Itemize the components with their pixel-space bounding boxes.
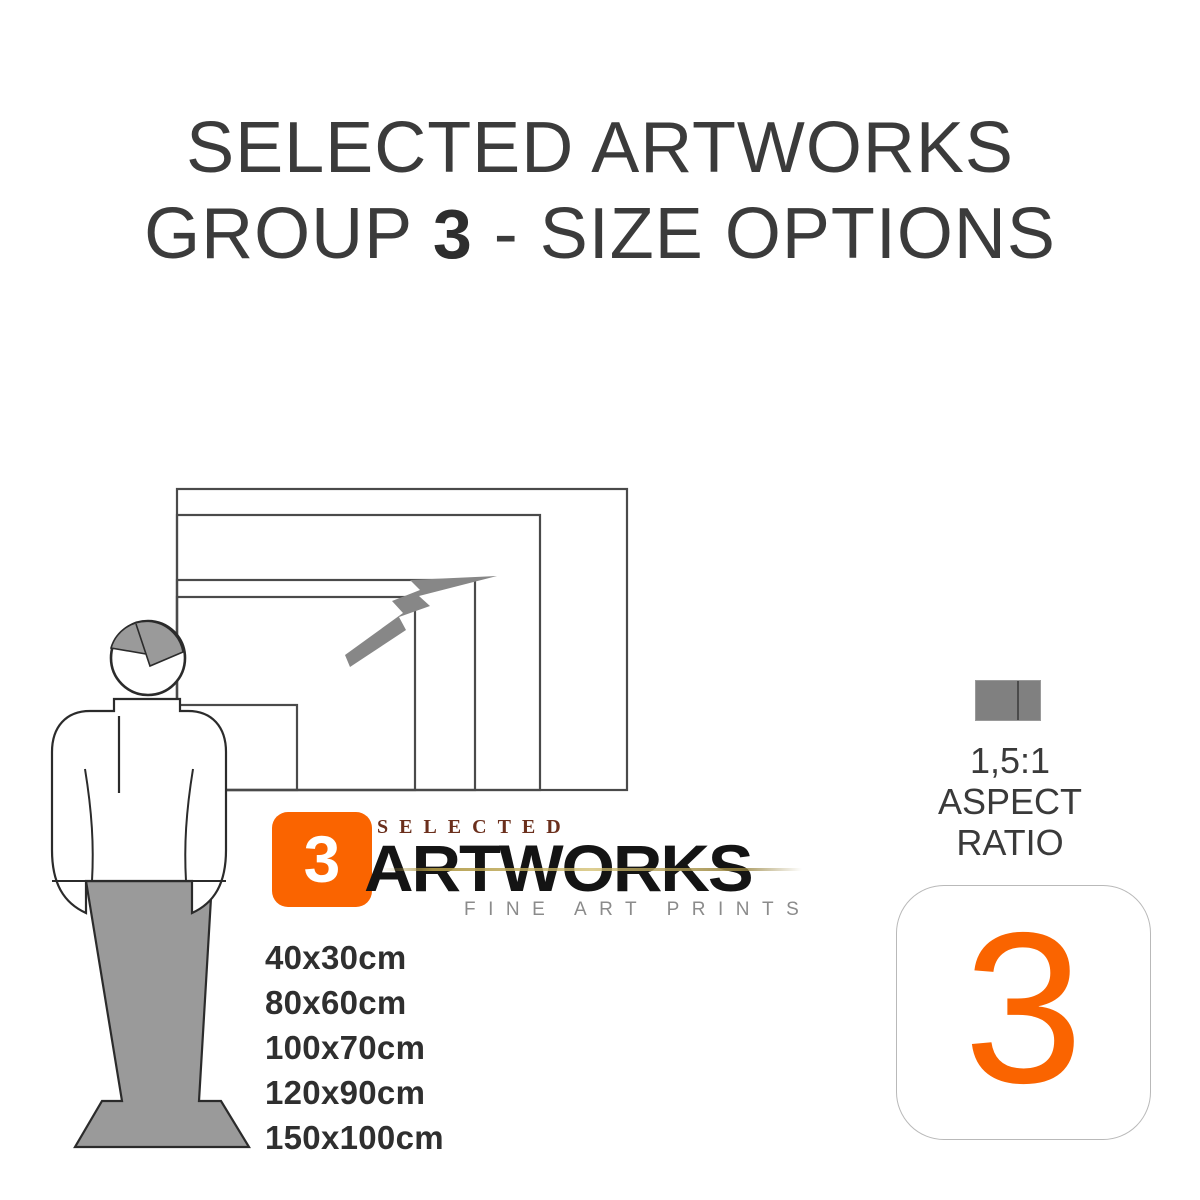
group-badge: 3 [896, 885, 1151, 1140]
figure-lower-body [75, 881, 249, 1147]
brand-scratch-overlay [382, 868, 802, 871]
aspect-ratio-word-2: RATIO [900, 822, 1120, 863]
group-number-chip: 3 [272, 812, 372, 907]
size-option-item: 100x70cm [265, 1025, 444, 1070]
aspect-ratio-divider [1017, 681, 1019, 720]
aspect-ratio-swatch-icon [975, 680, 1041, 721]
size-option-item: 40x30cm [265, 935, 444, 980]
size-options-list: 40x30cm 80x60cm 100x70cm 120x90cm 150x10… [265, 935, 444, 1160]
size-option-item: 80x60cm [265, 980, 444, 1025]
frame-outlines [177, 489, 627, 790]
human-scale-figure [52, 621, 249, 1147]
group-badge-number: 3 [897, 886, 1150, 1139]
size-option-item: 120x90cm [265, 1070, 444, 1115]
frame-rect-150x100 [177, 489, 627, 790]
aspect-ratio-label: 1,5:1 ASPECT RATIO [900, 740, 1120, 863]
aspect-ratio-word-1: ASPECT [900, 781, 1120, 822]
aspect-ratio-value: 1,5:1 [900, 740, 1120, 781]
brand-tagline: FINE ART PRINTS [464, 899, 811, 921]
size-option-item: 150x100cm [265, 1115, 444, 1160]
brand-logo-lockup: 3 SELECTED ARTWORKS FINE ART PRINTS [272, 812, 832, 922]
